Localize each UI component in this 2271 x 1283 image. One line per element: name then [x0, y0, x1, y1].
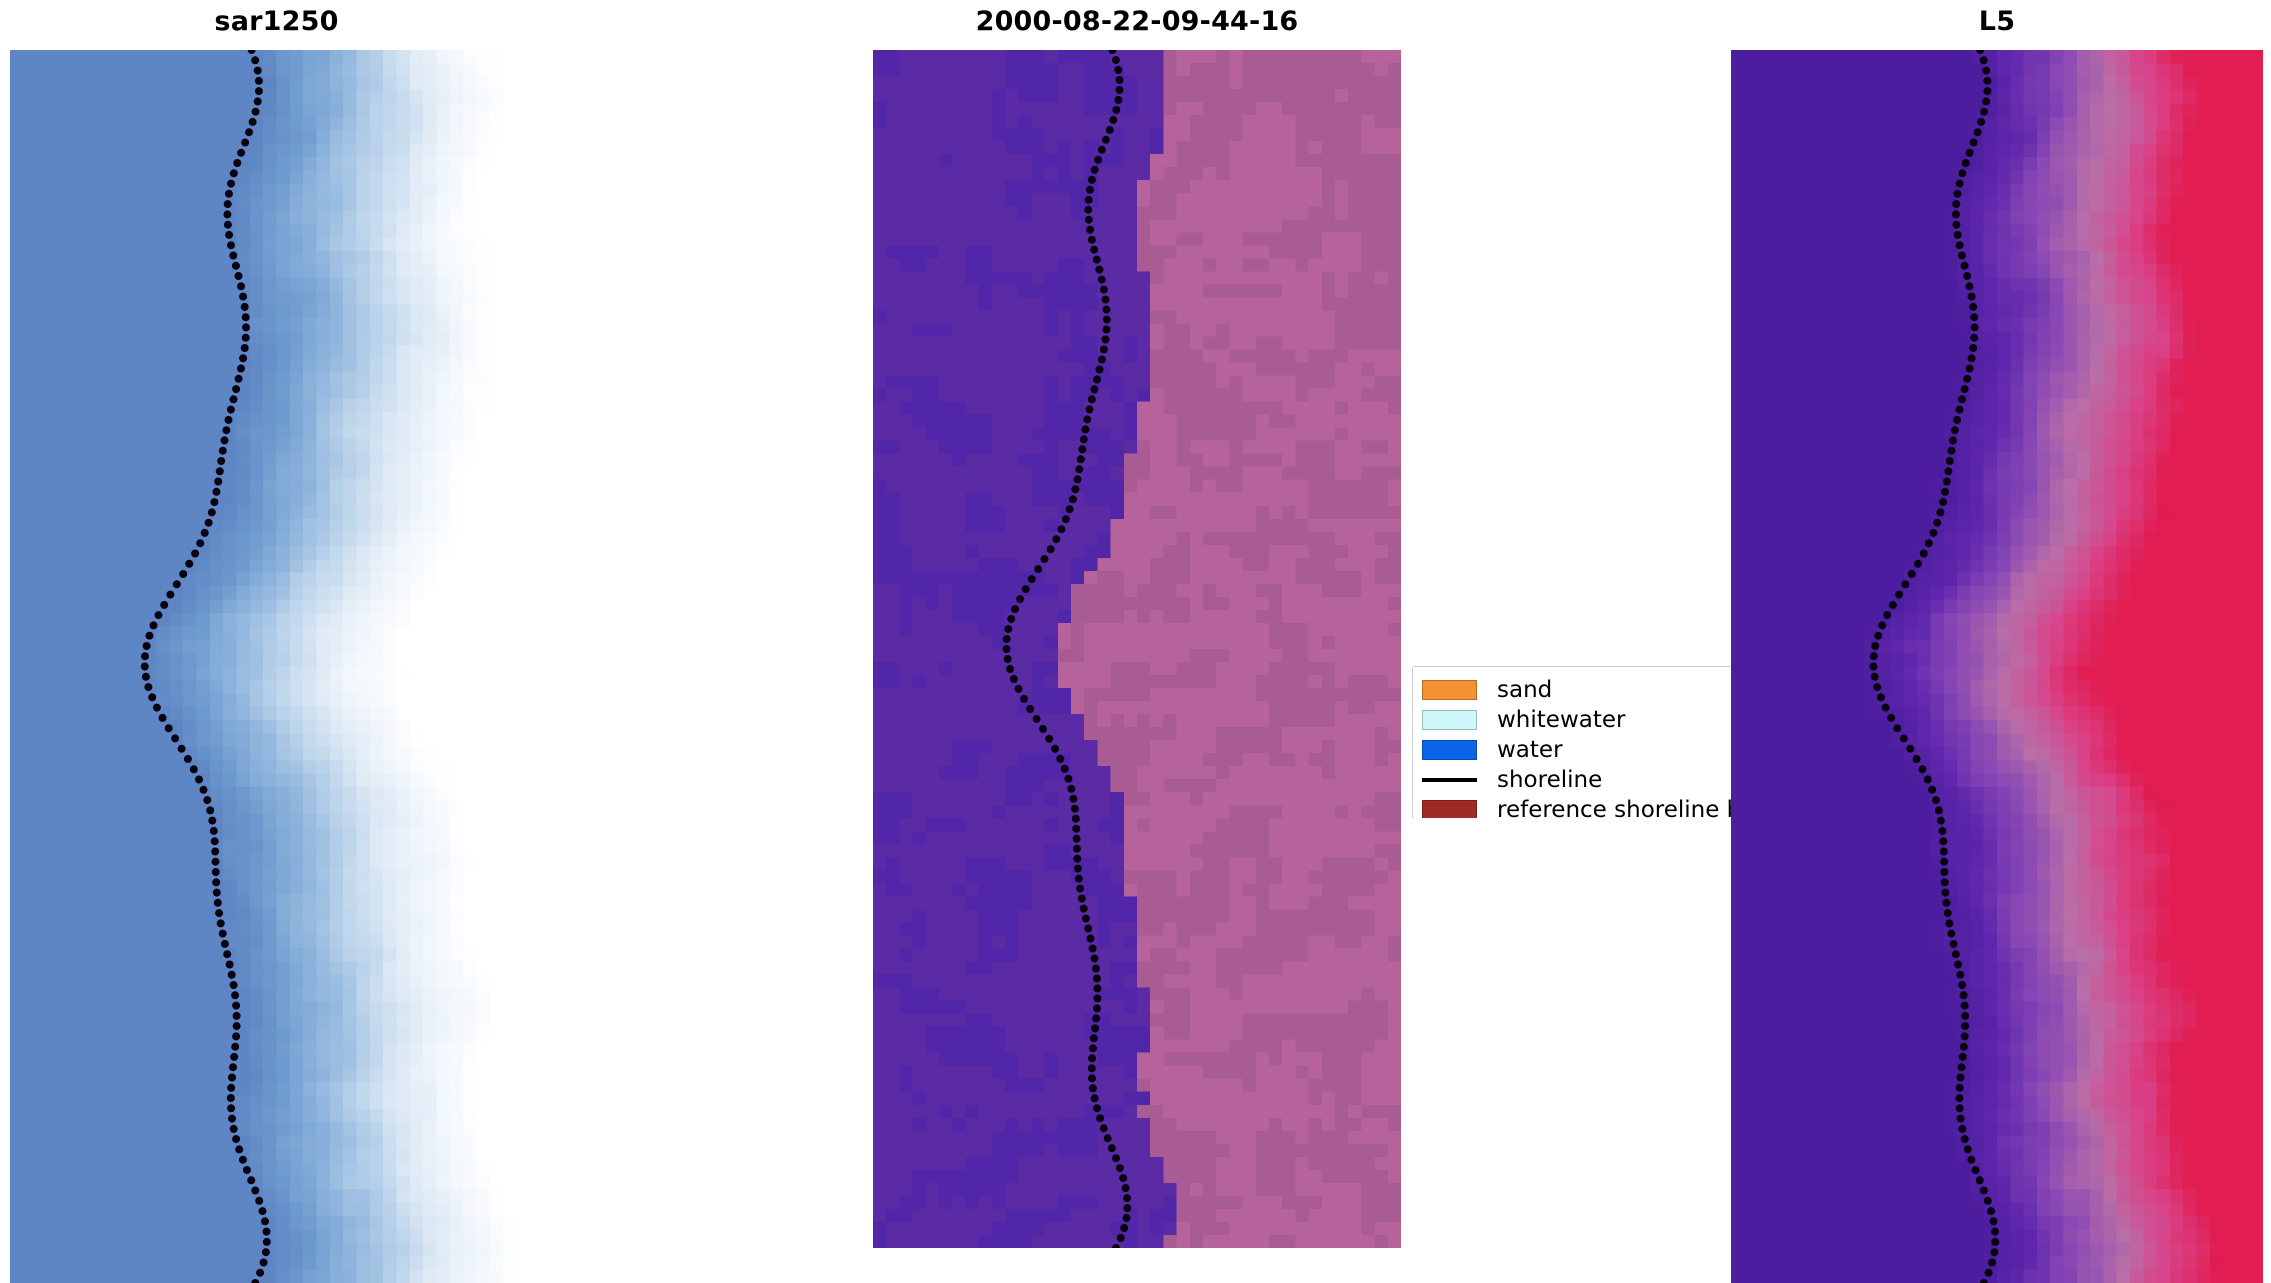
legend-item-sand[interactable]: sand	[1422, 675, 1731, 705]
legend-label-shoreline: shoreline	[1484, 767, 1602, 793]
whitewater-swatch-wrap	[1422, 710, 1484, 730]
panel-title-classified: 2000-08-22-09-44-16	[873, 6, 1401, 38]
sand-color-swatch	[1422, 680, 1477, 700]
reference-shoreline-buffer-swatch-wrap	[1422, 800, 1484, 818]
panel-classified-image[interactable]	[873, 50, 1401, 1248]
legend-item-whitewater[interactable]: whitewater	[1422, 705, 1731, 735]
legend-item-water[interactable]: water	[1422, 735, 1731, 765]
matplotlib-figure: sar1250 2000-08-22-09-44-16 L5 sand	[0, 0, 2271, 1283]
legend-item-shoreline[interactable]: shoreline	[1422, 765, 1731, 795]
legend[interactable]: sand whitewater water shoreline	[1412, 666, 1731, 818]
legend-label-sand: sand	[1484, 677, 1552, 703]
legend-item-reference-shoreline-buffer[interactable]: reference shoreline buffer	[1422, 795, 1731, 818]
legend-label-reference-shoreline-buffer: reference shoreline buffer	[1484, 797, 1731, 818]
legend-label-whitewater: whitewater	[1484, 707, 1625, 733]
whitewater-color-swatch	[1422, 710, 1477, 730]
sar-raster	[10, 50, 543, 1283]
l5-raster	[1731, 50, 2263, 1283]
reference-shoreline-buffer-color-swatch	[1422, 800, 1477, 818]
legend-box: sand whitewater water shoreline	[1412, 666, 1731, 818]
legend-label-water: water	[1484, 737, 1563, 763]
water-swatch-wrap	[1422, 740, 1484, 760]
shoreline-swatch-wrap	[1422, 778, 1484, 782]
shoreline-line-swatch	[1422, 778, 1477, 782]
sand-swatch-wrap	[1422, 680, 1484, 700]
panel-sar-image[interactable]	[10, 50, 543, 1283]
panel-title-l5: L5	[1731, 6, 2263, 38]
panel-title-sar: sar1250	[10, 6, 543, 38]
panel-l5-image[interactable]	[1731, 50, 2263, 1283]
classified-raster	[873, 50, 1401, 1248]
water-color-swatch	[1422, 740, 1477, 760]
